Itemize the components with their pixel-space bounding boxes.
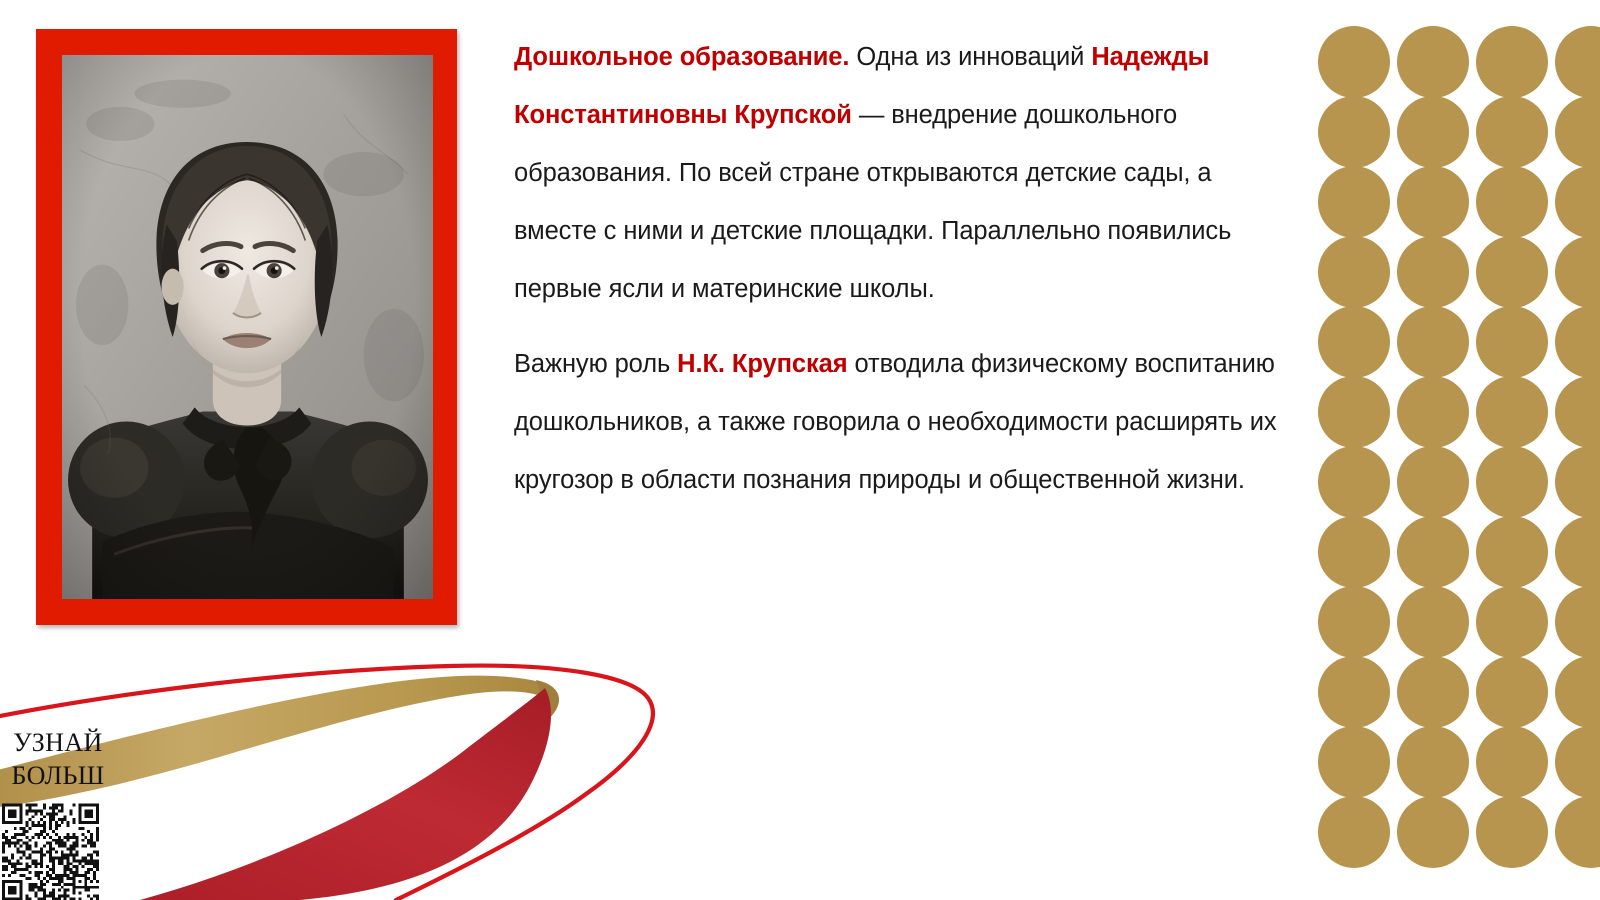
paragraph-2: Важную роль Н.К. Крупская отводила физич…: [514, 335, 1289, 509]
gold-dot: [1476, 516, 1548, 588]
gold-dot: [1476, 166, 1548, 238]
gold-dot: [1397, 96, 1469, 168]
gold-dot: [1555, 306, 1600, 378]
portrait-frame: [36, 29, 457, 625]
gold-dot: [1397, 26, 1469, 98]
gold-dot: [1318, 96, 1390, 168]
gold-dot: [1397, 376, 1469, 448]
paragraph-1-run-2: Одна из инноваций: [849, 43, 1091, 71]
gold-dot: [1555, 26, 1600, 98]
gold-dot: [1318, 26, 1390, 98]
gold-dot: [1318, 236, 1390, 308]
cta-line-2: БОЛЬШ: [2, 759, 114, 792]
gold-dot: [1476, 796, 1548, 868]
gold-dot: [1397, 516, 1469, 588]
gold-dot: [1397, 166, 1469, 238]
gold-dot: [1476, 586, 1548, 658]
gold-dot: [1397, 236, 1469, 308]
gold-dot: [1555, 166, 1600, 238]
gold-dot: [1555, 516, 1600, 588]
gold-dot: [1555, 726, 1600, 798]
gold-dot: [1318, 166, 1390, 238]
gold-dot: [1555, 796, 1600, 868]
gold-dot: [1555, 586, 1600, 658]
gold-dot: [1318, 726, 1390, 798]
gold-dot: [1476, 26, 1548, 98]
gold-dot: [1476, 726, 1548, 798]
gold-dot: [1476, 306, 1548, 378]
gold-dot: [1318, 656, 1390, 728]
highlight-name-krupskaya-short: Н.К. Крупская: [677, 350, 847, 378]
gold-dot: [1318, 446, 1390, 518]
gold-dot: [1397, 446, 1469, 518]
gold-dot: [1397, 656, 1469, 728]
slide-canvas: Дошкольное образование. Одна из инноваци…: [0, 0, 1600, 900]
paragraph-2-run-1: Важную роль: [514, 350, 677, 378]
cta-line-1: УЗНАЙ: [2, 726, 114, 759]
gold-dot: [1555, 96, 1600, 168]
body-text-column: Дошкольное образование. Одна из инноваци…: [514, 28, 1289, 509]
learn-more-cta[interactable]: УЗНАЙ БОЛЬШ: [2, 726, 114, 792]
gold-dot: [1476, 446, 1548, 518]
gold-dot: [1555, 236, 1600, 308]
gold-dot: [1555, 656, 1600, 728]
gold-dot: [1555, 446, 1600, 518]
qr-code[interactable]: [2, 797, 99, 900]
gold-dot: [1397, 796, 1469, 868]
gold-dot: [1476, 236, 1548, 308]
gold-dot: [1476, 96, 1548, 168]
gold-dot: [1555, 376, 1600, 448]
gold-dot: [1397, 586, 1469, 658]
gold-dot: [1397, 726, 1469, 798]
portrait-photo: [62, 55, 433, 599]
gold-dot: [1318, 796, 1390, 868]
gold-dot: [1318, 376, 1390, 448]
gold-dot: [1476, 656, 1548, 728]
gold-dot: [1397, 306, 1469, 378]
gold-dot: [1318, 586, 1390, 658]
highlight-term-preschool-education: Дошкольное образование.: [514, 43, 849, 71]
gold-dot: [1318, 306, 1390, 378]
paragraph-1: Дошкольное образование. Одна из инноваци…: [514, 28, 1289, 318]
paragraph-1-run-4: — внедрение дошкольного образования. По …: [514, 101, 1231, 303]
gold-dot: [1476, 376, 1548, 448]
gold-dot: [1318, 516, 1390, 588]
gold-dot-grid: [1318, 26, 1600, 871]
